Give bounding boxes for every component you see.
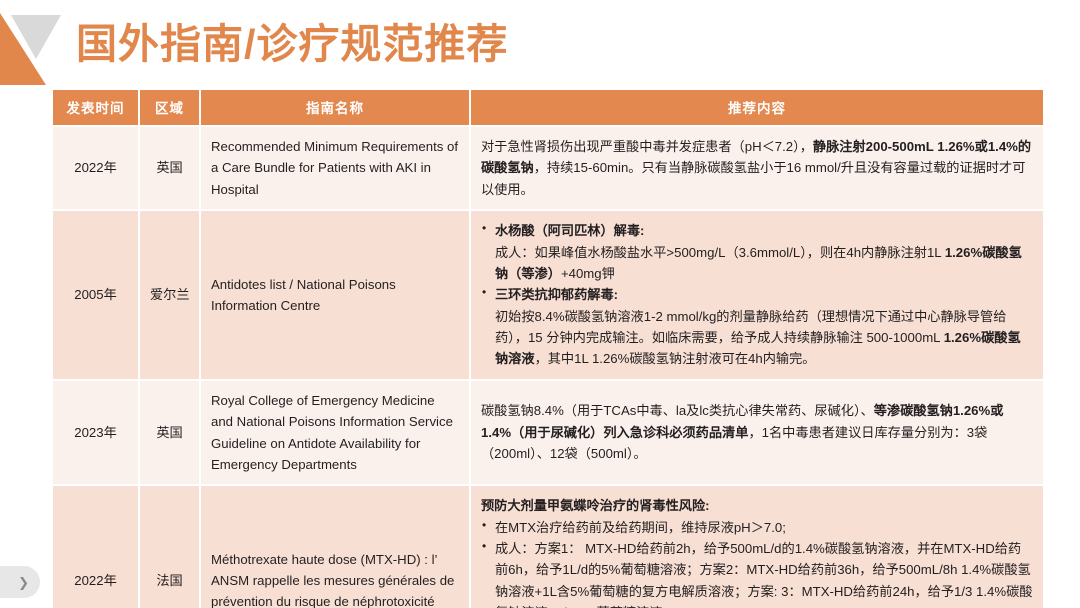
bullet-body: 成人：如果峰值水杨酸盐水平>500mg/L（3.6mmol/L），则在4h内静脉… [495, 242, 1033, 285]
slide-page: 国外指南/诊疗规范推荐 发表时间 区域 指南名称 推荐内容 2022年 英国 [0, 0, 1080, 608]
bullet-list: 水杨酸（阿司匹林）解毒: 成人：如果峰值水杨酸盐水平>500mg/L（3.6mm… [481, 220, 1033, 370]
content-text-plain: 对于急性肾损伤出现严重酸中毒并发症患者（pH＜7.2）， [481, 139, 813, 154]
title-bar: 国外指南/诊疗规范推荐 [0, 0, 1080, 86]
column-header-date: 发表时间 [53, 90, 138, 125]
cell-date: 2022年 [53, 486, 138, 608]
column-header-region: 区域 [140, 90, 199, 125]
table-row: 2005年 爱尔兰 Antidotes list / National Pois… [53, 211, 1043, 379]
cell-name: Antidotes list / National Poisons Inform… [201, 211, 469, 379]
cell-content: 水杨酸（阿司匹林）解毒: 成人：如果峰值水杨酸盐水平>500mg/L（3.6mm… [471, 211, 1043, 379]
content-lead-bold: 预防大剂量甲氨蝶呤治疗的肾毒性风险: [481, 495, 1033, 516]
cell-date: 2022年 [53, 127, 138, 209]
chevron-right-icon: ❯ [18, 576, 29, 589]
bullet-body: 初始按8.4%碳酸氢钠溶液1-2 mmol/kg的剂量静脉给药（理想情况下通过中… [495, 306, 1033, 370]
guideline-table-wrap: 发表时间 区域 指南名称 推荐内容 2022年 英国 Recommended M… [51, 88, 1035, 608]
cell-content: 预防大剂量甲氨蝶呤治疗的肾毒性风险: 在MTX治疗给药前及给药期间，维持尿液pH… [471, 486, 1043, 608]
bullet-heading: 水杨酸（阿司匹林）解毒: [495, 223, 644, 238]
cell-name: Royal College of Emergency Medicine and … [201, 381, 469, 485]
cell-region: 爱尔兰 [140, 211, 199, 379]
guideline-table: 发表时间 区域 指南名称 推荐内容 2022年 英国 Recommended M… [51, 88, 1045, 608]
content-text-plain: 成人：如果峰值水杨酸盐水平>500mg/L（3.6mmol/L），则在4h内静脉… [495, 245, 945, 260]
content-text-plain: ，持续15-60min。只有当静脉碳酸氢盐小于16 mmol/升且没有容量过载的… [481, 160, 1025, 196]
list-item: 三环类抗抑郁药解毒: 初始按8.4%碳酸氢钠溶液1-2 mmol/kg的剂量静脉… [481, 284, 1033, 370]
cell-content: 对于急性肾损伤出现严重酸中毒并发症患者（pH＜7.2），静脉注射200-500m… [471, 127, 1043, 209]
content-text-plain: 初始按8.4%碳酸氢钠溶液1-2 mmol/kg的剂量静脉给药（理想情况下通过中… [495, 309, 1006, 345]
cell-region: 英国 [140, 381, 199, 485]
list-item: 水杨酸（阿司匹林）解毒: 成人：如果峰值水杨酸盐水平>500mg/L（3.6mm… [481, 220, 1033, 284]
content-text-plain: ，其中1L 1.26%碳酸氢钠注射液可在4h内输完。 [535, 351, 816, 366]
cell-date: 2005年 [53, 211, 138, 379]
bullet-heading: 三环类抗抑郁药解毒: [495, 287, 618, 302]
list-item: 在MTX治疗给药前及给药期间，维持尿液pH＞7.0; [481, 517, 1033, 538]
cell-name: Méthotrexate haute dose (MTX-HD) : l’ AN… [201, 486, 469, 608]
content-text-plain: 碳酸氢钠8.4%（用于TCAs中毒、la及lc类抗心律失常药、尿碱化）、 [481, 403, 874, 418]
cell-region: 法国 [140, 486, 199, 608]
column-header-content: 推荐内容 [471, 90, 1043, 125]
grey-down-triangle-icon [11, 15, 61, 59]
cell-content: 碳酸氢钠8.4%（用于TCAs中毒、la及lc类抗心律失常药、尿碱化）、等渗碳酸… [471, 381, 1043, 485]
table-row: 2022年 英国 Recommended Minimum Requirement… [53, 127, 1043, 209]
bullet-list: 在MTX治疗给药前及给药期间，维持尿液pH＞7.0; 成人：方案1： MTX-H… [481, 517, 1033, 608]
cell-name: Recommended Minimum Requirements of a Ca… [201, 127, 469, 209]
table-row: 2023年 英国 Royal College of Emergency Medi… [53, 381, 1043, 485]
cell-date: 2023年 [53, 381, 138, 485]
column-header-name: 指南名称 [201, 90, 469, 125]
table-row: 2022年 法国 Méthotrexate haute dose (MTX-HD… [53, 486, 1043, 608]
logo-mark [0, 13, 66, 85]
list-item: 成人：方案1： MTX-HD给药前2h，给予500mL/d的1.4%碳酸氢钠溶液… [481, 538, 1033, 608]
table-header-row: 发表时间 区域 指南名称 推荐内容 [53, 90, 1043, 125]
content-text-plain: +40mg钾 [561, 266, 615, 281]
next-slide-button[interactable]: ❯ [0, 566, 40, 598]
page-title: 国外指南/诊疗规范推荐 [76, 16, 508, 72]
cell-region: 英国 [140, 127, 199, 209]
